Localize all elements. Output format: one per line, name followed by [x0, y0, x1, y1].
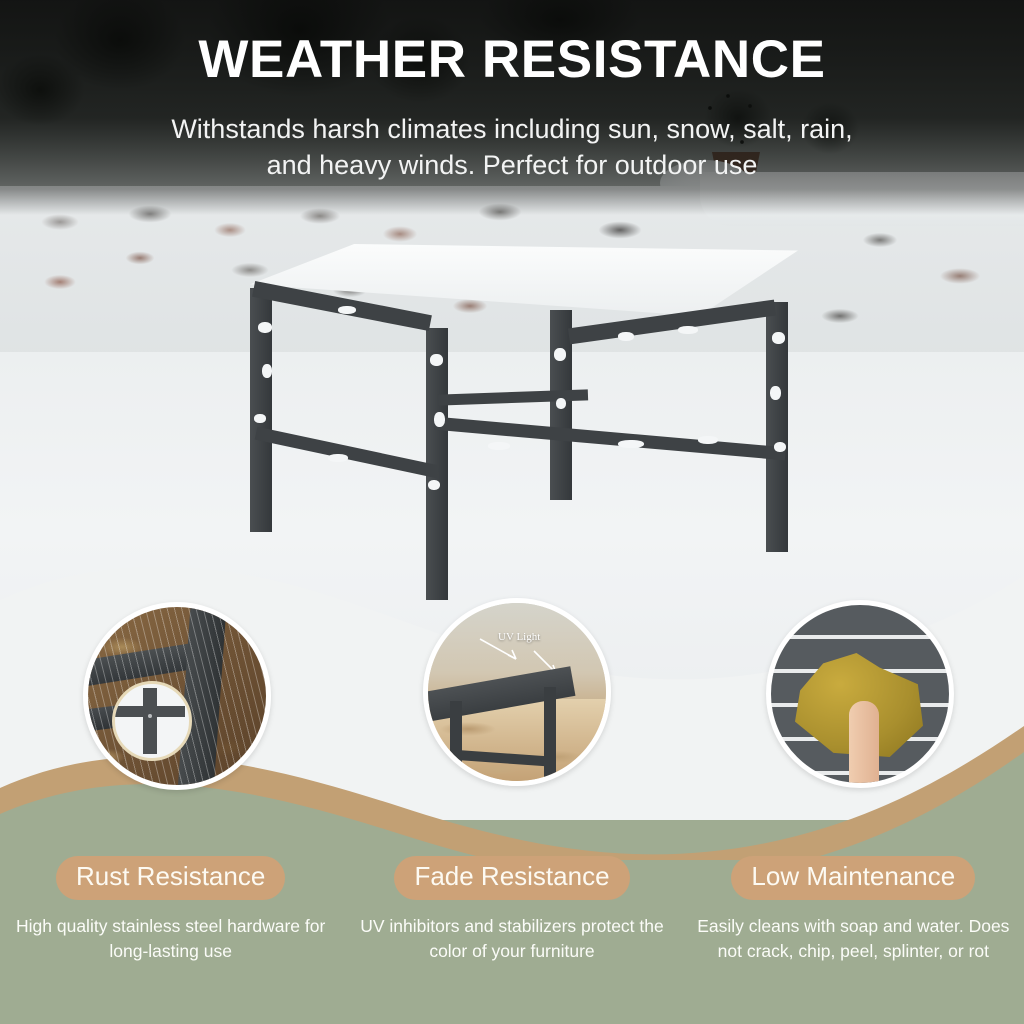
table-stretcher-right — [434, 417, 786, 461]
beach-table-leg-right — [544, 687, 556, 783]
subtitle-line-1: Withstands harsh climates including sun,… — [112, 112, 912, 148]
feature-description-rust-resistance: High quality stainless steel hardware fo… — [14, 914, 327, 964]
feature-label-rust-resistance: Rust Resistance — [56, 856, 285, 900]
feature-card-rust-resistance: Rust Resistance High quality stainless s… — [0, 856, 341, 1024]
inset-screw — [148, 714, 152, 718]
magnifier-inset — [112, 681, 192, 761]
beach-table-leg-left — [450, 701, 462, 786]
low-maintenance-photo — [766, 600, 954, 788]
fade-resistance-photo: UV Light — [423, 598, 611, 786]
table-stretcher-left — [255, 427, 440, 478]
subtitle-line-2: and heavy winds. Perfect for outdoor use — [112, 148, 912, 184]
feature-label-fade-resistance: Fade Resistance — [394, 856, 629, 900]
feature-description-fade-resistance: UV inhibitors and stabilizers protect th… — [355, 914, 668, 964]
feature-card-list: Rust Resistance High quality stainless s… — [0, 856, 1024, 1024]
page-title: WEATHER RESISTANCE — [0, 32, 1024, 88]
feature-description-low-maintenance: Easily cleans with soap and water. Does … — [697, 914, 1010, 964]
feature-card-low-maintenance: Low Maintenance Easily cleans with soap … — [683, 856, 1024, 1024]
inset-post — [143, 688, 157, 754]
hand-arm — [849, 701, 879, 785]
outdoor-table — [238, 236, 810, 588]
rust-resistance-photo — [83, 602, 271, 790]
feature-label-low-maintenance: Low Maintenance — [731, 856, 975, 900]
infographic-root: WEATHER RESISTANCE Withstands harsh clim… — [0, 0, 1024, 1024]
page-subtitle: Withstands harsh climates including sun,… — [112, 112, 912, 183]
feature-card-fade-resistance: Fade Resistance UV inhibitors and stabil… — [341, 856, 682, 1024]
uv-light-label: UV Light — [498, 631, 540, 643]
